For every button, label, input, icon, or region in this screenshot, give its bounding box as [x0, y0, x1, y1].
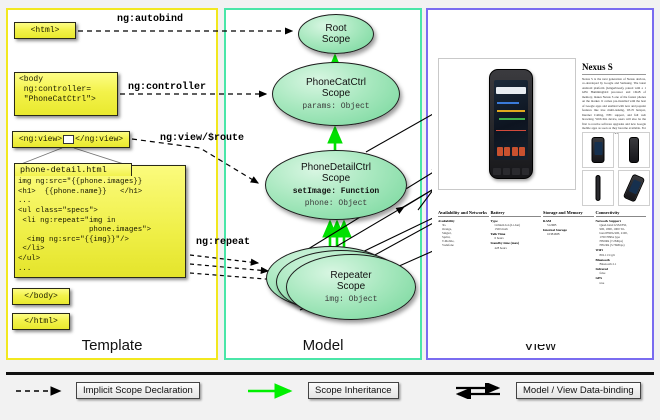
code-box-partial: img ng:src="{{phone.images}} <h1> {{phon…: [14, 165, 186, 278]
specs-value: 512MB: [543, 223, 594, 227]
specs-header-3: Connectivity: [596, 210, 647, 217]
legend-item-inheritance: Scope Inheritance: [246, 382, 399, 399]
view-thumbnail-3[interactable]: [618, 170, 650, 206]
legend-item-implicit: Implicit Scope Declaration: [14, 382, 200, 399]
phone-back-icon: [629, 137, 639, 163]
legend-label-databinding: Model / View Data-binding: [516, 382, 641, 399]
view-thumbnail-0[interactable]: [582, 132, 614, 168]
ngview-slot-icon: [63, 135, 74, 144]
legend-label-inheritance: Scope Inheritance: [308, 382, 399, 399]
view-rendered-page: Nexus S Nexus S is the next generation o…: [432, 14, 648, 344]
specs-value: 802.11 b/g/n: [596, 253, 647, 257]
scope-phonecatctrl: PhoneCatCtrl Scope params: Object: [272, 62, 400, 126]
code-box-body-close: </body>: [12, 288, 70, 305]
specs-header-0: Availability and Networks: [438, 210, 489, 217]
view-thumbnail-1[interactable]: [618, 132, 650, 168]
phone-hardware-buttons: [493, 168, 529, 175]
phone-map-line-3: [499, 118, 525, 120]
legend: Implicit Scope Declaration Scope Inherit…: [6, 382, 654, 404]
specs-column-3: Connectivity Network Support Quad-band G…: [596, 210, 647, 285]
phone-hero-image: [489, 69, 533, 179]
code-box-html-open: <html>: [14, 22, 76, 39]
scope-root: Root Scope: [298, 14, 374, 54]
phone-app-icons: [497, 147, 525, 156]
phone-map-line-4: [496, 130, 526, 131]
specs-header-2: Storage and Memory: [543, 210, 594, 217]
dashed-arrow-icon: [14, 383, 70, 399]
column-label-template: Template: [8, 337, 216, 354]
scope-phonedetailctrl-name1: PhoneDetailCtrl: [301, 162, 371, 173]
specs-row: Availability and Networks Availability 3…: [438, 210, 646, 285]
phone-map-line-2: [497, 110, 525, 112]
edge-label-repeat: ng:repeat: [196, 237, 250, 248]
column-label-model: Model: [226, 337, 420, 354]
ngview-close-tag: </ng:view>: [75, 135, 123, 145]
phone-screen: [494, 80, 528, 160]
scope-phonecatctrl-name1: PhoneCatCtrl: [306, 77, 366, 88]
view-thumbnail-2[interactable]: [582, 170, 614, 206]
phone-hero-image-frame: [438, 58, 576, 190]
view-phone-description: Nexus S is the next generation of Nexus …: [582, 77, 646, 135]
phone-map-line-1: [497, 102, 519, 104]
scope-repeater: Repeater Scope img: Object: [286, 254, 416, 320]
ngview-open-tag: <ng:view>: [19, 135, 62, 145]
specs-header-1: Battery: [491, 210, 542, 217]
specs-value: 428 hours: [491, 246, 542, 250]
scope-phonecatctrl-name2: Scope: [322, 88, 350, 99]
scope-repeater-name2: Scope: [337, 281, 365, 292]
specs-value: HSUPA (5.76Mbps): [596, 243, 647, 247]
diagram-root: Template Model View: [0, 0, 660, 420]
scope-phonecatctrl-prop-0: params: Object: [302, 102, 369, 111]
phone-edge-icon: [596, 175, 601, 201]
edge-label-autobind: ng:autobind: [117, 14, 183, 25]
code-box-body-open: <body ng:controller= "PhoneCatCtrl">: [14, 72, 118, 116]
view-specs-table: Availability and Networks Availability 3…: [438, 210, 646, 285]
scope-repeater-prop-0: img: Object: [325, 295, 378, 304]
scope-root-name2: Scope: [322, 34, 350, 45]
specs-value: 1500 mAh: [491, 227, 542, 231]
view-title-rule: [582, 74, 646, 75]
scope-root-name1: Root: [325, 23, 346, 34]
code-box-html-close: </html>: [12, 313, 70, 330]
partial-file-title: phone-detail.html: [14, 163, 132, 176]
edge-label-view-route: ng:view/$route: [160, 133, 244, 144]
view-phone-title: Nexus S: [582, 62, 613, 72]
scope-repeater-name1: Repeater: [330, 270, 371, 281]
scope-phonedetailctrl-prop-0: setImage: Function: [293, 187, 379, 196]
edge-label-controller: ng:controller: [128, 82, 206, 93]
specs-value: false: [596, 271, 647, 275]
legend-label-implicit: Implicit Scope Declaration: [76, 382, 200, 399]
scope-phonedetailctrl: PhoneDetailCtrl Scope setImage: Function…: [265, 150, 407, 220]
specs-value: 6 hours: [491, 236, 542, 240]
specs-value: 16384MB: [543, 232, 594, 236]
green-arrow-icon: [246, 383, 302, 399]
code-box-ngview: <ng:view> </ng:view>: [12, 131, 130, 148]
phone-search-bar: [496, 87, 526, 94]
phone-angled-icon: [623, 173, 645, 202]
legend-divider: [6, 372, 654, 375]
specs-value: true: [596, 281, 647, 285]
specs-value: Vodafone: [438, 243, 489, 247]
specs-column-2: Storage and Memory RAM 512MB Internal St…: [543, 210, 594, 285]
scope-phonedetailctrl-name2: Scope: [322, 173, 350, 184]
double-arrow-icon: [454, 383, 510, 399]
scope-phonedetailctrl-prop-1: phone: Object: [305, 199, 367, 208]
phone-front-icon: [592, 137, 605, 163]
specs-value: Bluetooth 2.1: [596, 262, 647, 266]
legend-item-databinding: Model / View Data-binding: [454, 382, 641, 399]
specs-column-0: Availability and Networks Availability 3…: [438, 210, 489, 285]
specs-column-1: Battery Type Lithium Ion (Li-Ion) 1500 m…: [491, 210, 542, 285]
